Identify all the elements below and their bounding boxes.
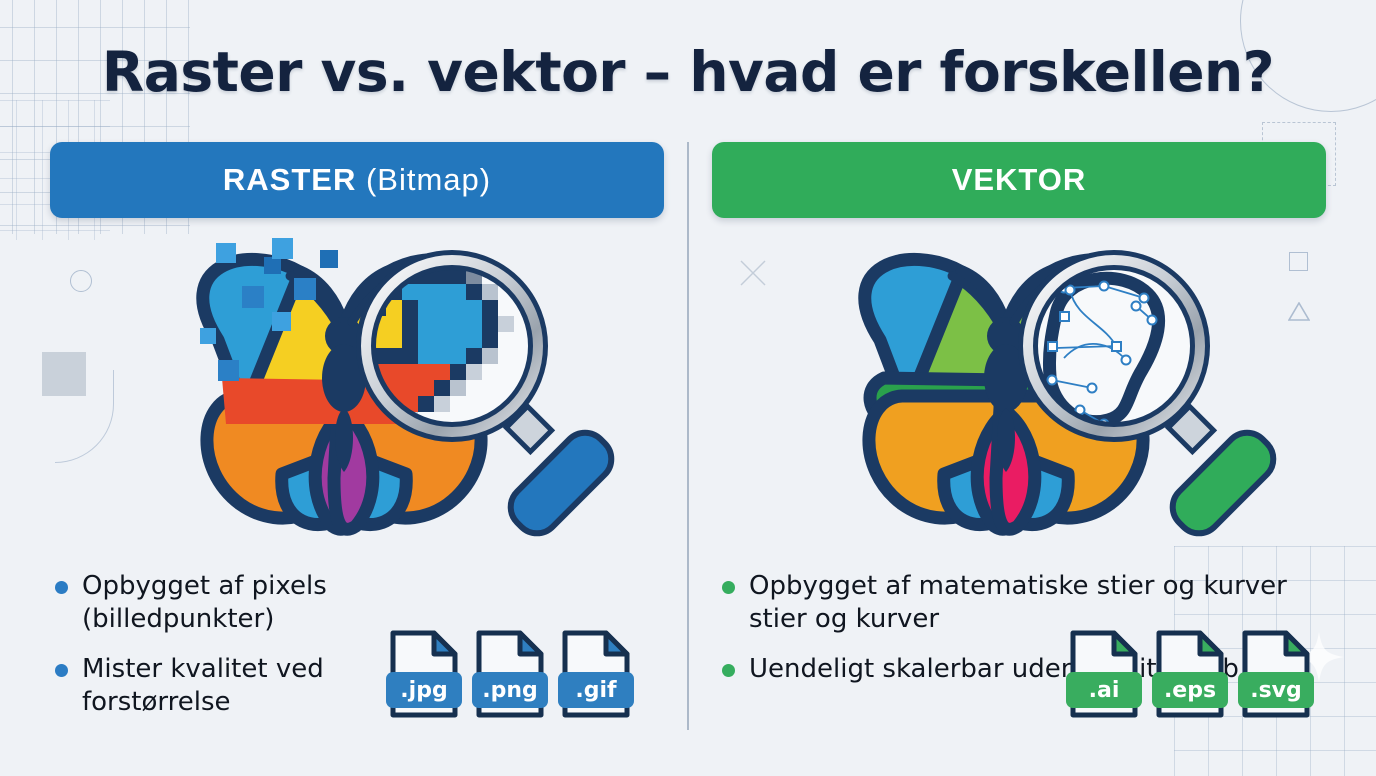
raster-header-light: (Bitmap)	[366, 162, 491, 197]
file-badge-ai: .ai	[1066, 672, 1142, 708]
file-icon-eps: .eps	[1154, 628, 1226, 720]
vektor-illustration	[712, 228, 1326, 548]
file-badge-jpg: .jpg	[386, 672, 462, 708]
raster-header-label: RASTER (Bitmap)	[223, 162, 491, 198]
file-badge-png: .png	[472, 672, 548, 708]
file-icon-ai: .ai	[1068, 628, 1140, 720]
raster-bullet-1: Opbygget af pixels (billedpunkter)	[82, 570, 395, 637]
bullet-dot-icon	[55, 581, 68, 594]
column-divider	[687, 142, 689, 730]
raster-header-bar: RASTER (Bitmap)	[50, 142, 664, 218]
list-item: Opbygget af pixels (billedpunkter)	[55, 570, 395, 637]
vektor-header-strong: VEKTOR	[952, 162, 1087, 197]
raster-bullet-2: Mister kvalitet ved forstørrelse	[82, 653, 395, 720]
raster-column: RASTER (Bitmap)	[50, 142, 664, 218]
page-title: Raster vs. vektor – hvad er forskellen?	[0, 40, 1376, 104]
raster-file-formats: .jpg .png .gif	[388, 628, 632, 720]
infographic-canvas: Raster vs. vektor – hvad er forskellen? …	[0, 0, 1376, 768]
vektor-column: VEKTOR	[712, 142, 1326, 218]
vektor-bullet-1: Opbygget af matematiske stier og kurver …	[749, 570, 1322, 637]
vektor-header-label: VEKTOR	[952, 162, 1087, 198]
file-badge-eps: .eps	[1152, 672, 1228, 708]
raster-illustration	[50, 228, 664, 548]
file-badge-svg: .svg	[1238, 672, 1314, 708]
file-icon-png: .png	[474, 628, 546, 720]
raster-header-strong: RASTER	[223, 162, 356, 197]
bullet-dot-icon	[55, 664, 68, 677]
vektor-header-bar: VEKTOR	[712, 142, 1326, 218]
bullet-dot-icon	[722, 664, 735, 677]
list-item: Mister kvalitet ved forstørrelse	[55, 653, 395, 720]
file-badge-gif: .gif	[558, 672, 634, 708]
file-icon-jpg: .jpg	[388, 628, 460, 720]
raster-bullet-list: Opbygget af pixels (billedpunkter) Miste…	[55, 570, 395, 735]
list-item: Opbygget af matematiske stier og kurver …	[722, 570, 1322, 637]
file-icon-svg: .svg	[1240, 628, 1312, 720]
file-icon-gif: .gif	[560, 628, 632, 720]
vektor-file-formats: .ai .eps .svg	[1068, 628, 1312, 720]
bullet-dot-icon	[722, 581, 735, 594]
